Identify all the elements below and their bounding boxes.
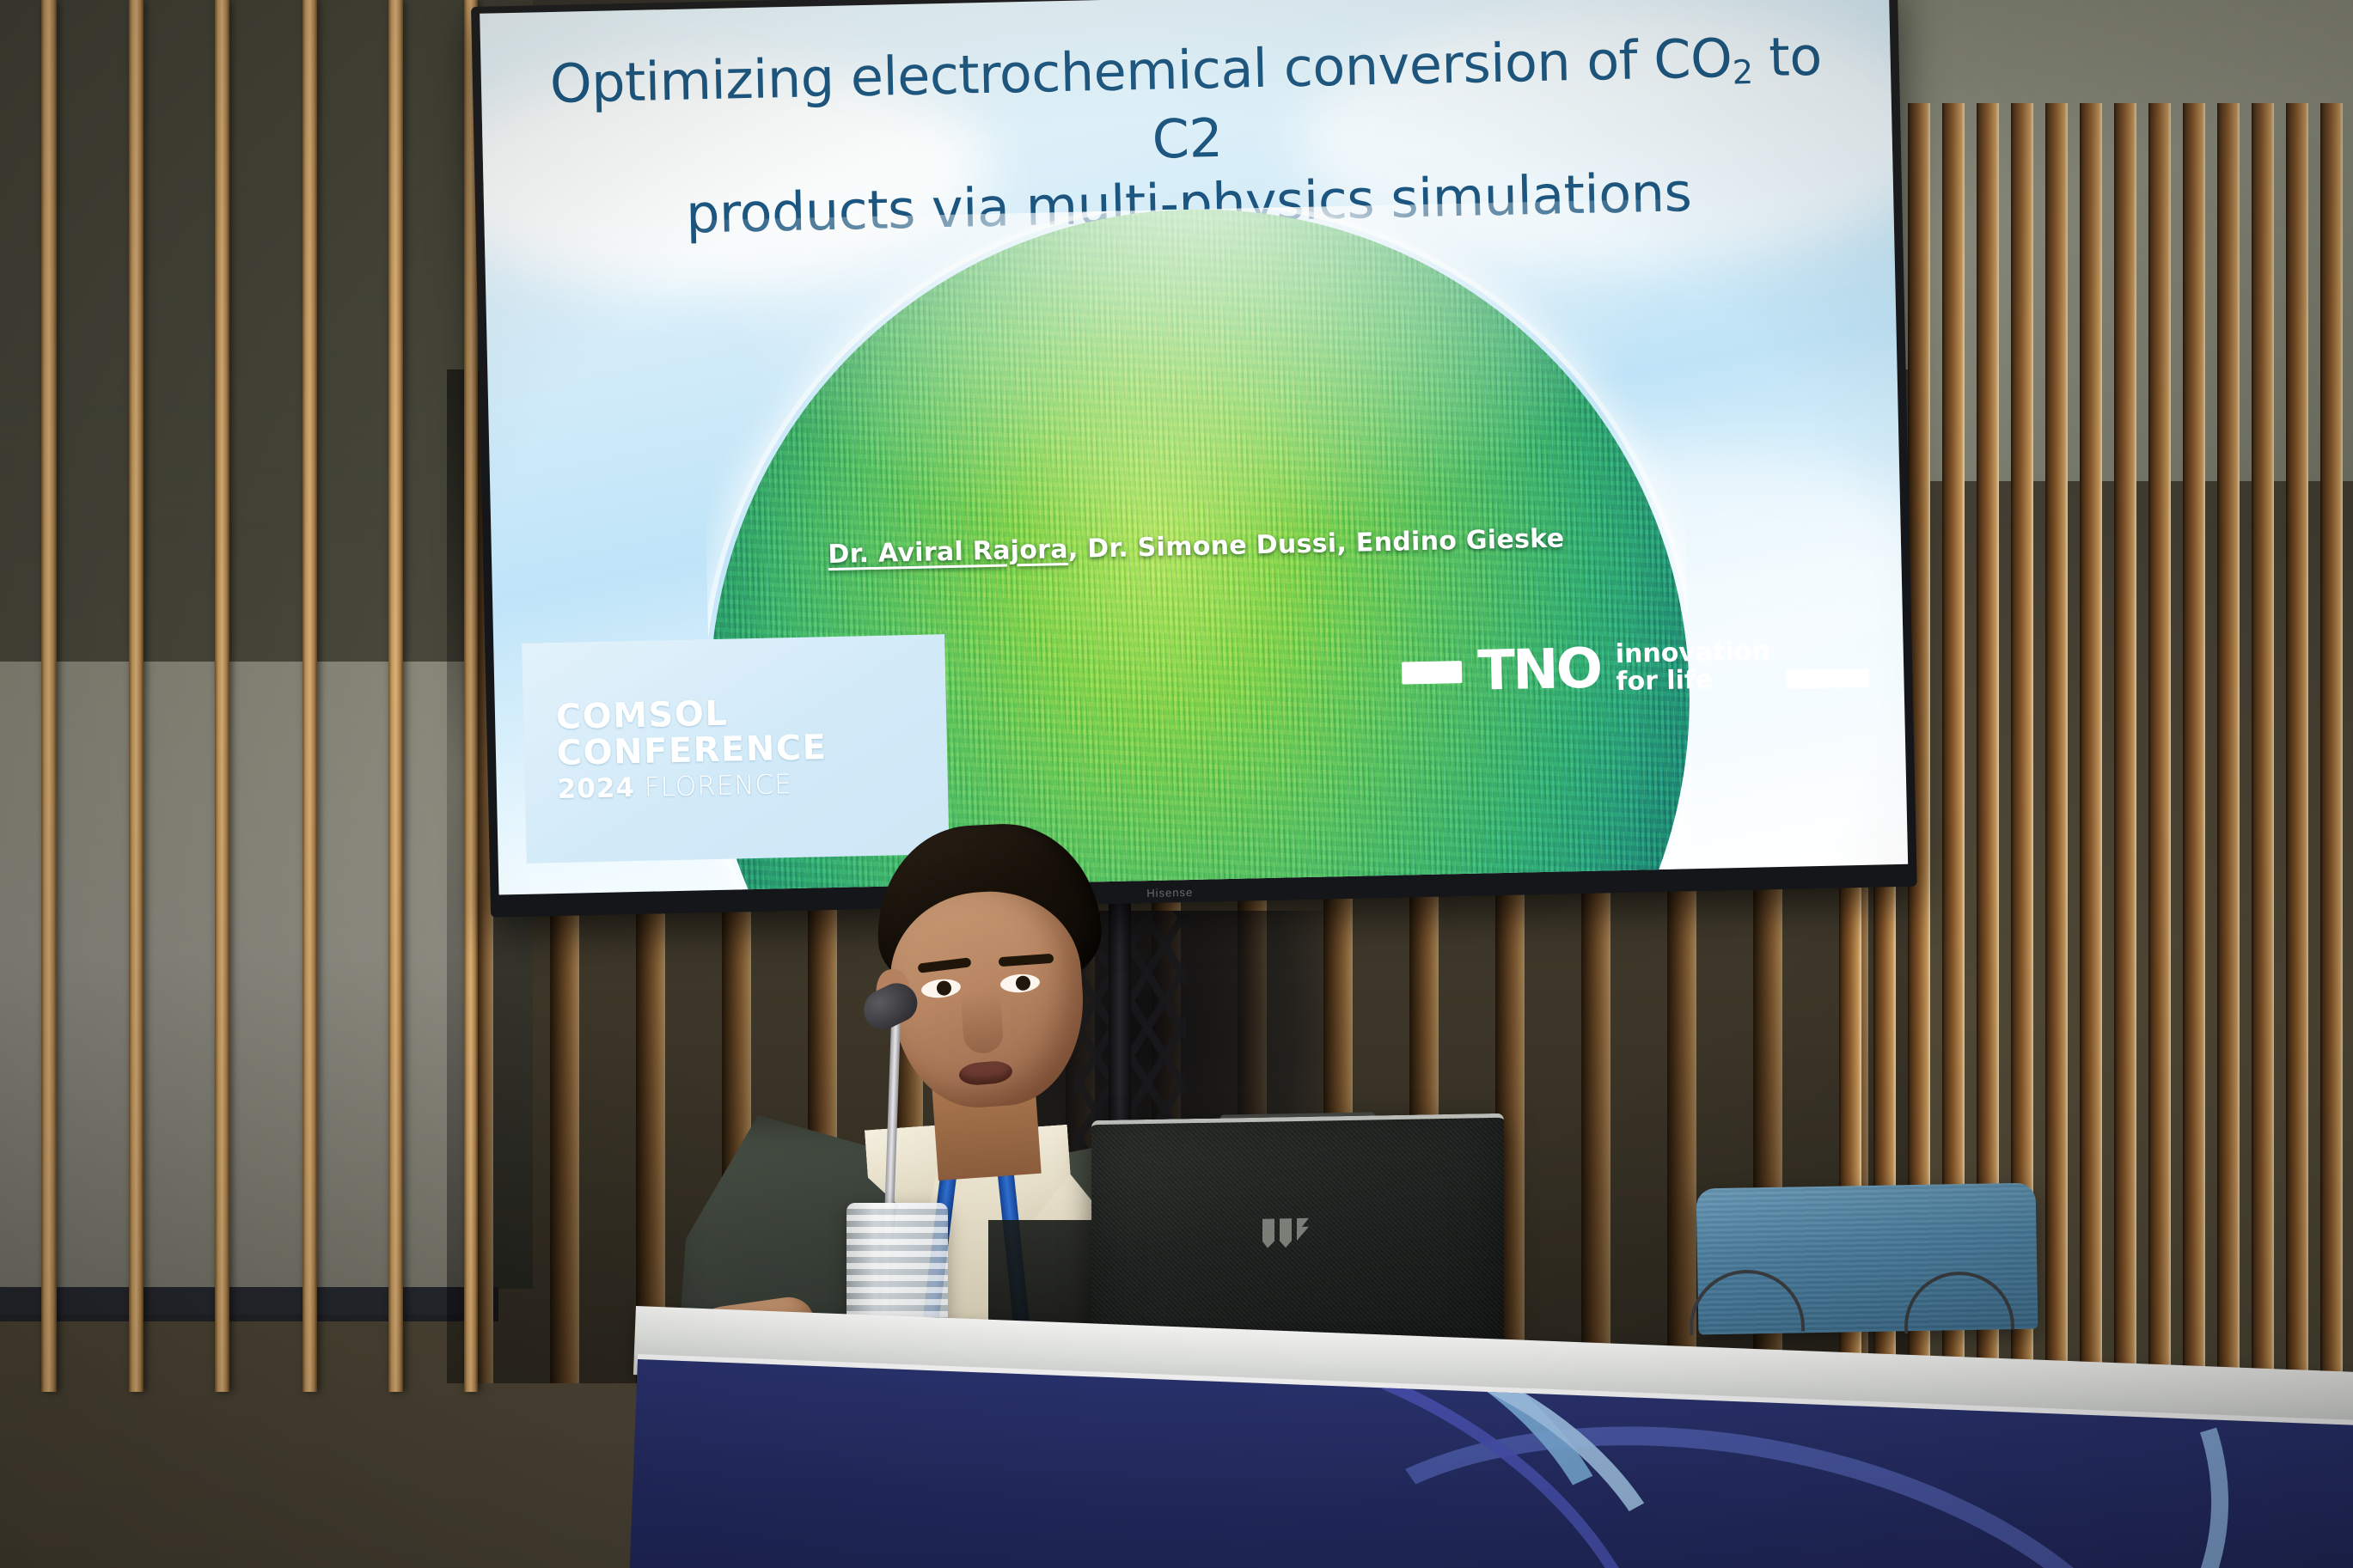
comsol-conference-word: CONFERENCE <box>556 727 947 772</box>
tno-left-dash <box>1402 661 1463 685</box>
tno-tagline-line1: innovation <box>1615 638 1770 669</box>
co2-subscript: 2 <box>1732 53 1753 93</box>
left-wood-slats <box>0 0 550 1392</box>
tno-wordmark: TNO <box>1477 642 1601 699</box>
author-lead: Dr. Aviral Rajora <box>828 534 1068 570</box>
presentation-television[interactable]: Optimizing electrochemical conversion of… <box>471 0 1917 918</box>
tno-right-dash <box>1786 668 1868 689</box>
tno-tagline: innovation for life <box>1615 638 1770 697</box>
nose <box>961 991 1005 1054</box>
tno-logo: TNO innovation for life <box>1402 636 1869 701</box>
tuf-gaming-logo-icon <box>1259 1215 1312 1255</box>
comsol-city: FLORENCE <box>644 769 792 803</box>
slide-screen: Optimizing electrochemical conversion of… <box>480 0 1908 895</box>
slide-title-line1-a: Optimizing electrochemical conversion of… <box>549 27 1733 115</box>
tno-tagline-line2: for life <box>1616 665 1771 696</box>
conference-photo-scene: Optimizing electrochemical conversion of… <box>0 0 2353 1568</box>
comsol-year: 2024 <box>557 772 635 805</box>
